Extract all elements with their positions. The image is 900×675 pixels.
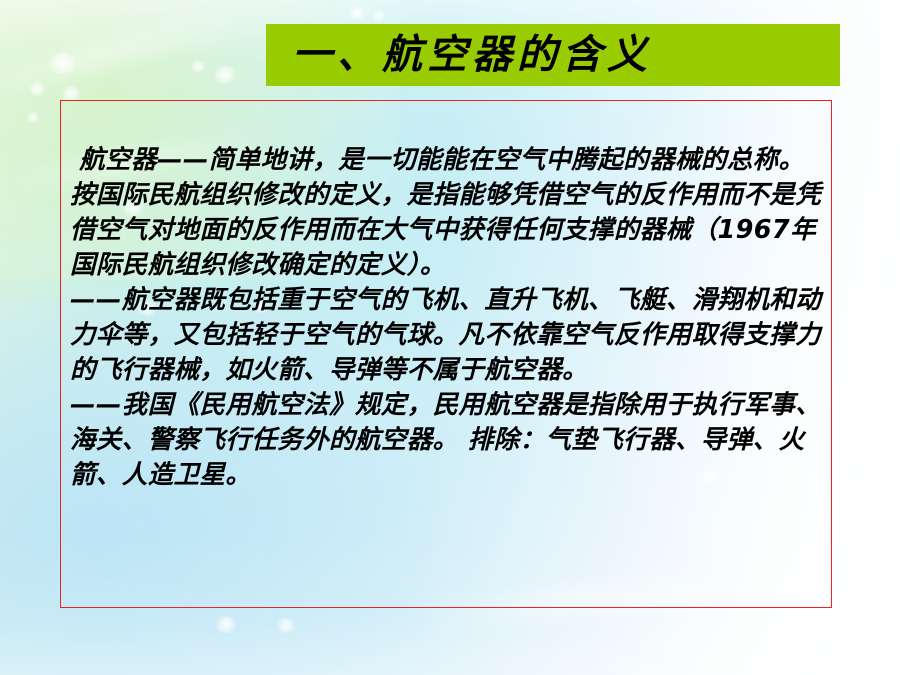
presentation-slide: 一、航空器的含义 航空器——简单地讲，是一切能能在空气中腾起的器械的总称。按国际… <box>0 0 900 675</box>
slide-title: 一、航空器的含义 <box>292 25 840 85</box>
content-body-text: 航空器——简单地讲，是一切能能在空气中腾起的器械的总称。按国际民航组织修改的定义… <box>70 143 830 493</box>
